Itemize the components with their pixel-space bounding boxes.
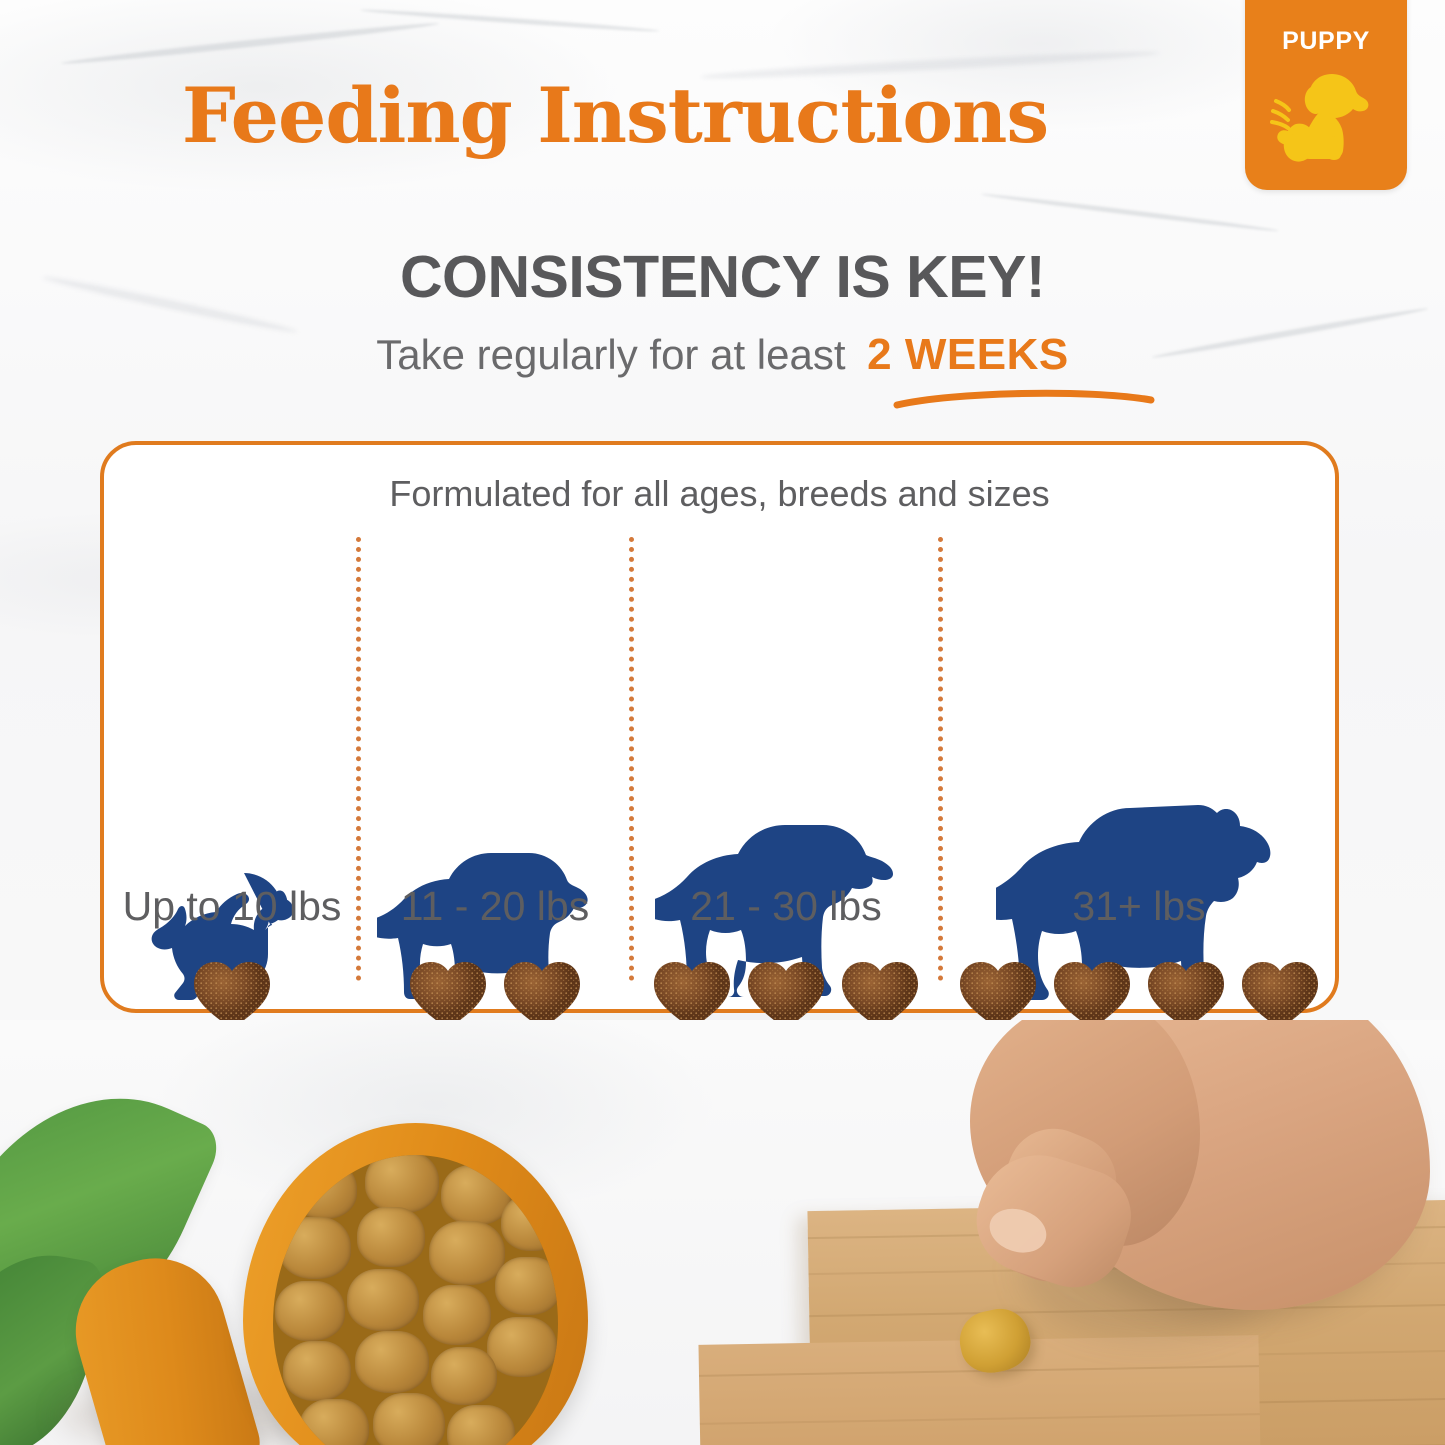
weight-label: 11 - 20 lbs	[361, 883, 629, 930]
puppy-badge: PUPPY	[1245, 0, 1407, 190]
feeding-column: 21 - 30 lbs	[634, 537, 938, 1007]
subtitle: CONSISTENCY IS KEY!	[0, 243, 1445, 311]
feeding-column: 11 - 20 lbs	[361, 537, 629, 1007]
feeding-column: Up to 10 lbs	[108, 537, 356, 1007]
feeding-column: 31+ lbs	[943, 537, 1335, 1007]
puppy-badge-label: PUPPY	[1282, 27, 1370, 56]
bowl-interior	[273, 1155, 558, 1445]
weight-label: 21 - 30 lbs	[634, 883, 938, 930]
tagline-highlight: 2 WEEKS	[867, 330, 1069, 379]
tagline: Take regularly for at least 2 WEEKS	[0, 330, 1445, 380]
page-title: Feeding Instructions	[0, 78, 1230, 154]
underline-swoosh-icon	[893, 385, 1155, 411]
card-note: Formulated for all ages, breeds and size…	[104, 473, 1335, 515]
infographic-page: PUPPY Feedi	[0, 0, 1445, 1445]
feeding-chart-card: Formulated for all ages, breeds and size…	[100, 441, 1339, 1013]
held-treat	[954, 1303, 1035, 1378]
weight-label: Up to 10 lbs	[108, 883, 356, 930]
tagline-prefix: Take regularly for at least	[376, 331, 845, 378]
sitting-puppy-icon	[1270, 64, 1382, 170]
hand-holding-treat	[900, 1020, 1420, 1430]
weight-label: 31+ lbs	[943, 883, 1335, 930]
product-photo	[0, 1020, 1445, 1445]
